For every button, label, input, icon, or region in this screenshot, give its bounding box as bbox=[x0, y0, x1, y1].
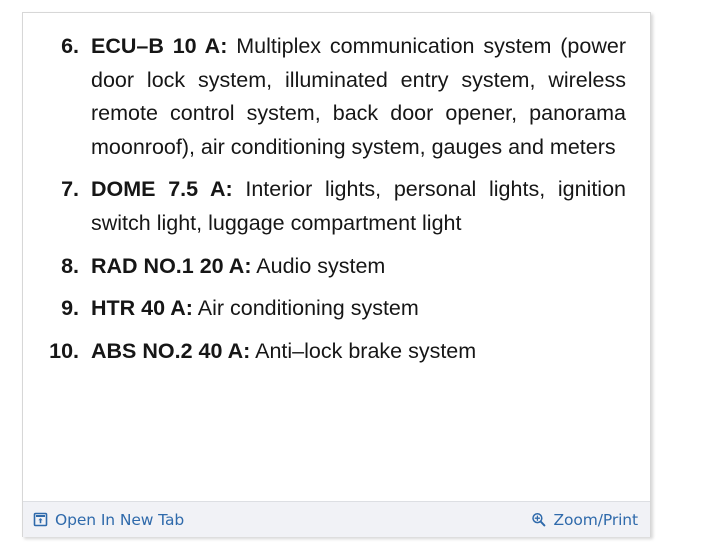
list-item-body: DOME 7.5 A: Interior lights, personal li… bbox=[91, 173, 626, 240]
list-item: 10. ABS NO.2 40 A: Anti–lock brake syste… bbox=[23, 335, 650, 369]
external-link-icon bbox=[33, 512, 48, 527]
list-item: 7. DOME 7.5 A: Interior lights, personal… bbox=[23, 173, 650, 240]
list-item-marker: 7. bbox=[23, 173, 79, 207]
list-item-marker: 8. bbox=[23, 250, 79, 284]
fuse-description: Air conditioning system bbox=[198, 296, 419, 320]
fuse-name: ECU–B 10 A: bbox=[91, 34, 227, 58]
image-viewer-panel: 6. ECU–B 10 A: Multiplex communication s… bbox=[22, 12, 651, 537]
fuse-description-list: 6. ECU–B 10 A: Multiplex communication s… bbox=[23, 30, 650, 368]
fuse-name: ABS NO.2 40 A: bbox=[91, 339, 250, 363]
fuse-name: HTR 40 A: bbox=[91, 296, 193, 320]
list-item-body: RAD NO.1 20 A: Audio system bbox=[91, 250, 626, 284]
zoom-print-label: Zoom/Print bbox=[553, 511, 638, 529]
list-item-body: ABS NO.2 40 A: Anti–lock brake system bbox=[91, 335, 626, 369]
list-item-marker: 9. bbox=[23, 292, 79, 326]
list-item-marker: 10. bbox=[23, 335, 79, 369]
viewer-footer-toolbar: Open In New Tab Zoom/Print bbox=[23, 501, 650, 537]
list-item: 6. ECU–B 10 A: Multiplex communication s… bbox=[23, 30, 650, 164]
list-item-marker: 6. bbox=[23, 30, 79, 64]
open-in-new-tab-button[interactable]: Open In New Tab bbox=[33, 511, 184, 529]
document-content-area: 6. ECU–B 10 A: Multiplex communication s… bbox=[23, 13, 650, 501]
magnifier-plus-icon bbox=[531, 512, 546, 527]
fuse-description: Audio system bbox=[256, 254, 385, 278]
fuse-name: RAD NO.1 20 A: bbox=[91, 254, 251, 278]
list-item: 8. RAD NO.1 20 A: Audio system bbox=[23, 250, 650, 284]
list-item-body: HTR 40 A: Air conditioning system bbox=[91, 292, 626, 326]
open-in-new-tab-label: Open In New Tab bbox=[55, 511, 184, 529]
fuse-name: DOME 7.5 A: bbox=[91, 177, 233, 201]
fuse-description: Anti–lock brake system bbox=[255, 339, 476, 363]
list-item-body: ECU–B 10 A: Multiplex communication syst… bbox=[91, 30, 626, 164]
zoom-print-button[interactable]: Zoom/Print bbox=[531, 511, 638, 529]
list-item: 9. HTR 40 A: Air conditioning system bbox=[23, 292, 650, 326]
